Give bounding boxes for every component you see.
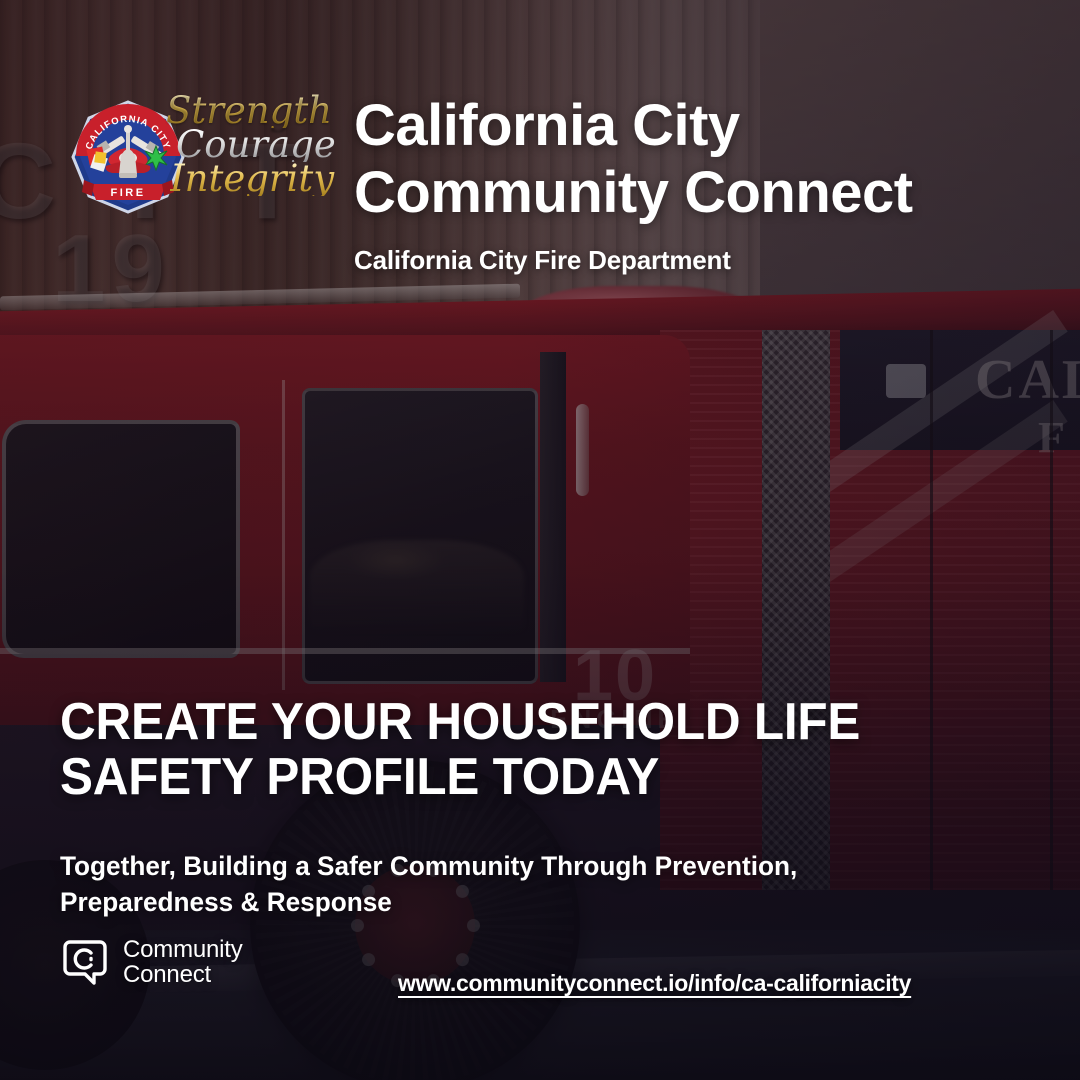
community-connect-logo: Community Connect: [60, 938, 243, 988]
motto-line-integrity: Integrity: [170, 162, 336, 196]
svg-text:FIRE: FIRE: [110, 187, 145, 199]
website-url-link[interactable]: www.communityconnect.io/info/ca-californ…: [398, 970, 911, 997]
community-connect-speech-bubble-icon: [60, 938, 110, 988]
headline-block: CREATE YOUR HOUSEHOLD LIFE SAFETY PROFIL…: [60, 695, 940, 920]
poster-content: CALIFORNIA CITY: [0, 0, 1080, 1080]
tagline-text: Together, Building a Safer Community Thr…: [60, 849, 914, 920]
department-motto: Strength Courage Integrity: [166, 94, 336, 196]
headline-text: CREATE YOUR HOUSEHOLD LIFE SAFETY PROFIL…: [60, 695, 896, 805]
page-subtitle: California City Fire Department: [354, 245, 913, 276]
page-title: California City Community Connect: [354, 92, 913, 227]
header: CALIFORNIA CITY: [62, 88, 913, 276]
community-connect-wordmark: Community Connect: [123, 938, 243, 988]
poster-canvas: C I T 19 CAL F 10 ENGINE: [0, 0, 1080, 1080]
title-block: California City Community Connect Califo…: [354, 88, 913, 276]
department-brandmark: CALIFORNIA CITY: [62, 88, 330, 220]
